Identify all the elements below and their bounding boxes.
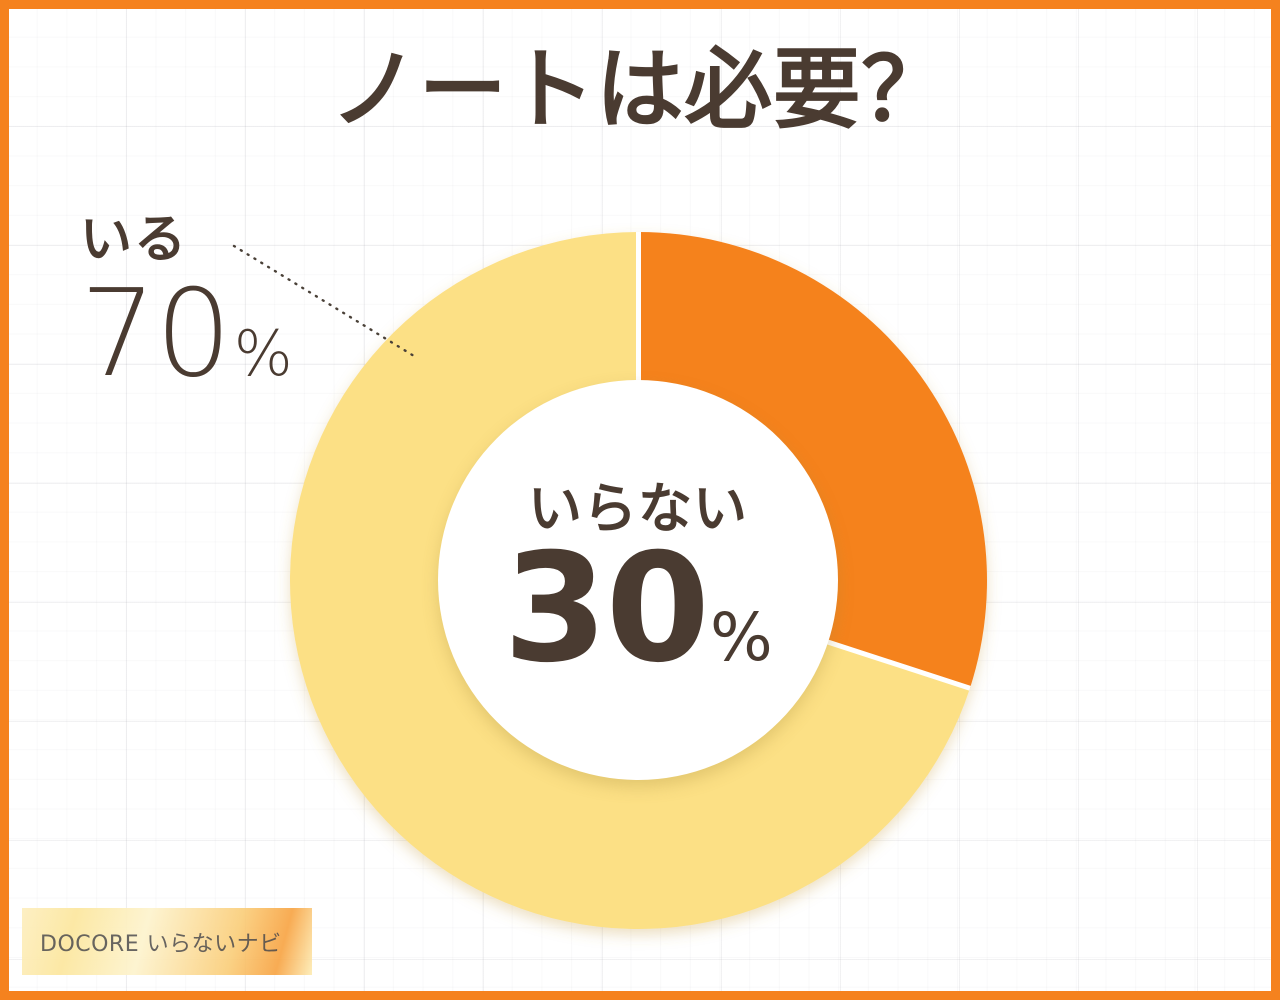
callout-value-row: 70 % bbox=[80, 275, 293, 395]
callout-percentage-value: 70 bbox=[80, 275, 231, 395]
callout-iru: いる 70 % bbox=[80, 212, 293, 395]
center-percentage-unit: % bbox=[710, 608, 773, 669]
infographic-page: ノートは必要？ いらない 30 % いる 70 bbox=[0, 0, 1280, 1000]
donut-center-label-group: いらない 30 % bbox=[438, 380, 838, 780]
watermark-badge: DOCORE いらないナビ bbox=[22, 908, 312, 975]
center-percentage-value: 30 bbox=[503, 540, 708, 678]
callout-percentage-unit: % bbox=[234, 323, 293, 385]
callout-category-label: いる bbox=[80, 212, 293, 269]
page-title: ノートは必要？ bbox=[0, 44, 1280, 136]
center-value-row: 30 % bbox=[503, 540, 772, 678]
watermark-text: DOCORE いらないナビ bbox=[22, 926, 282, 958]
